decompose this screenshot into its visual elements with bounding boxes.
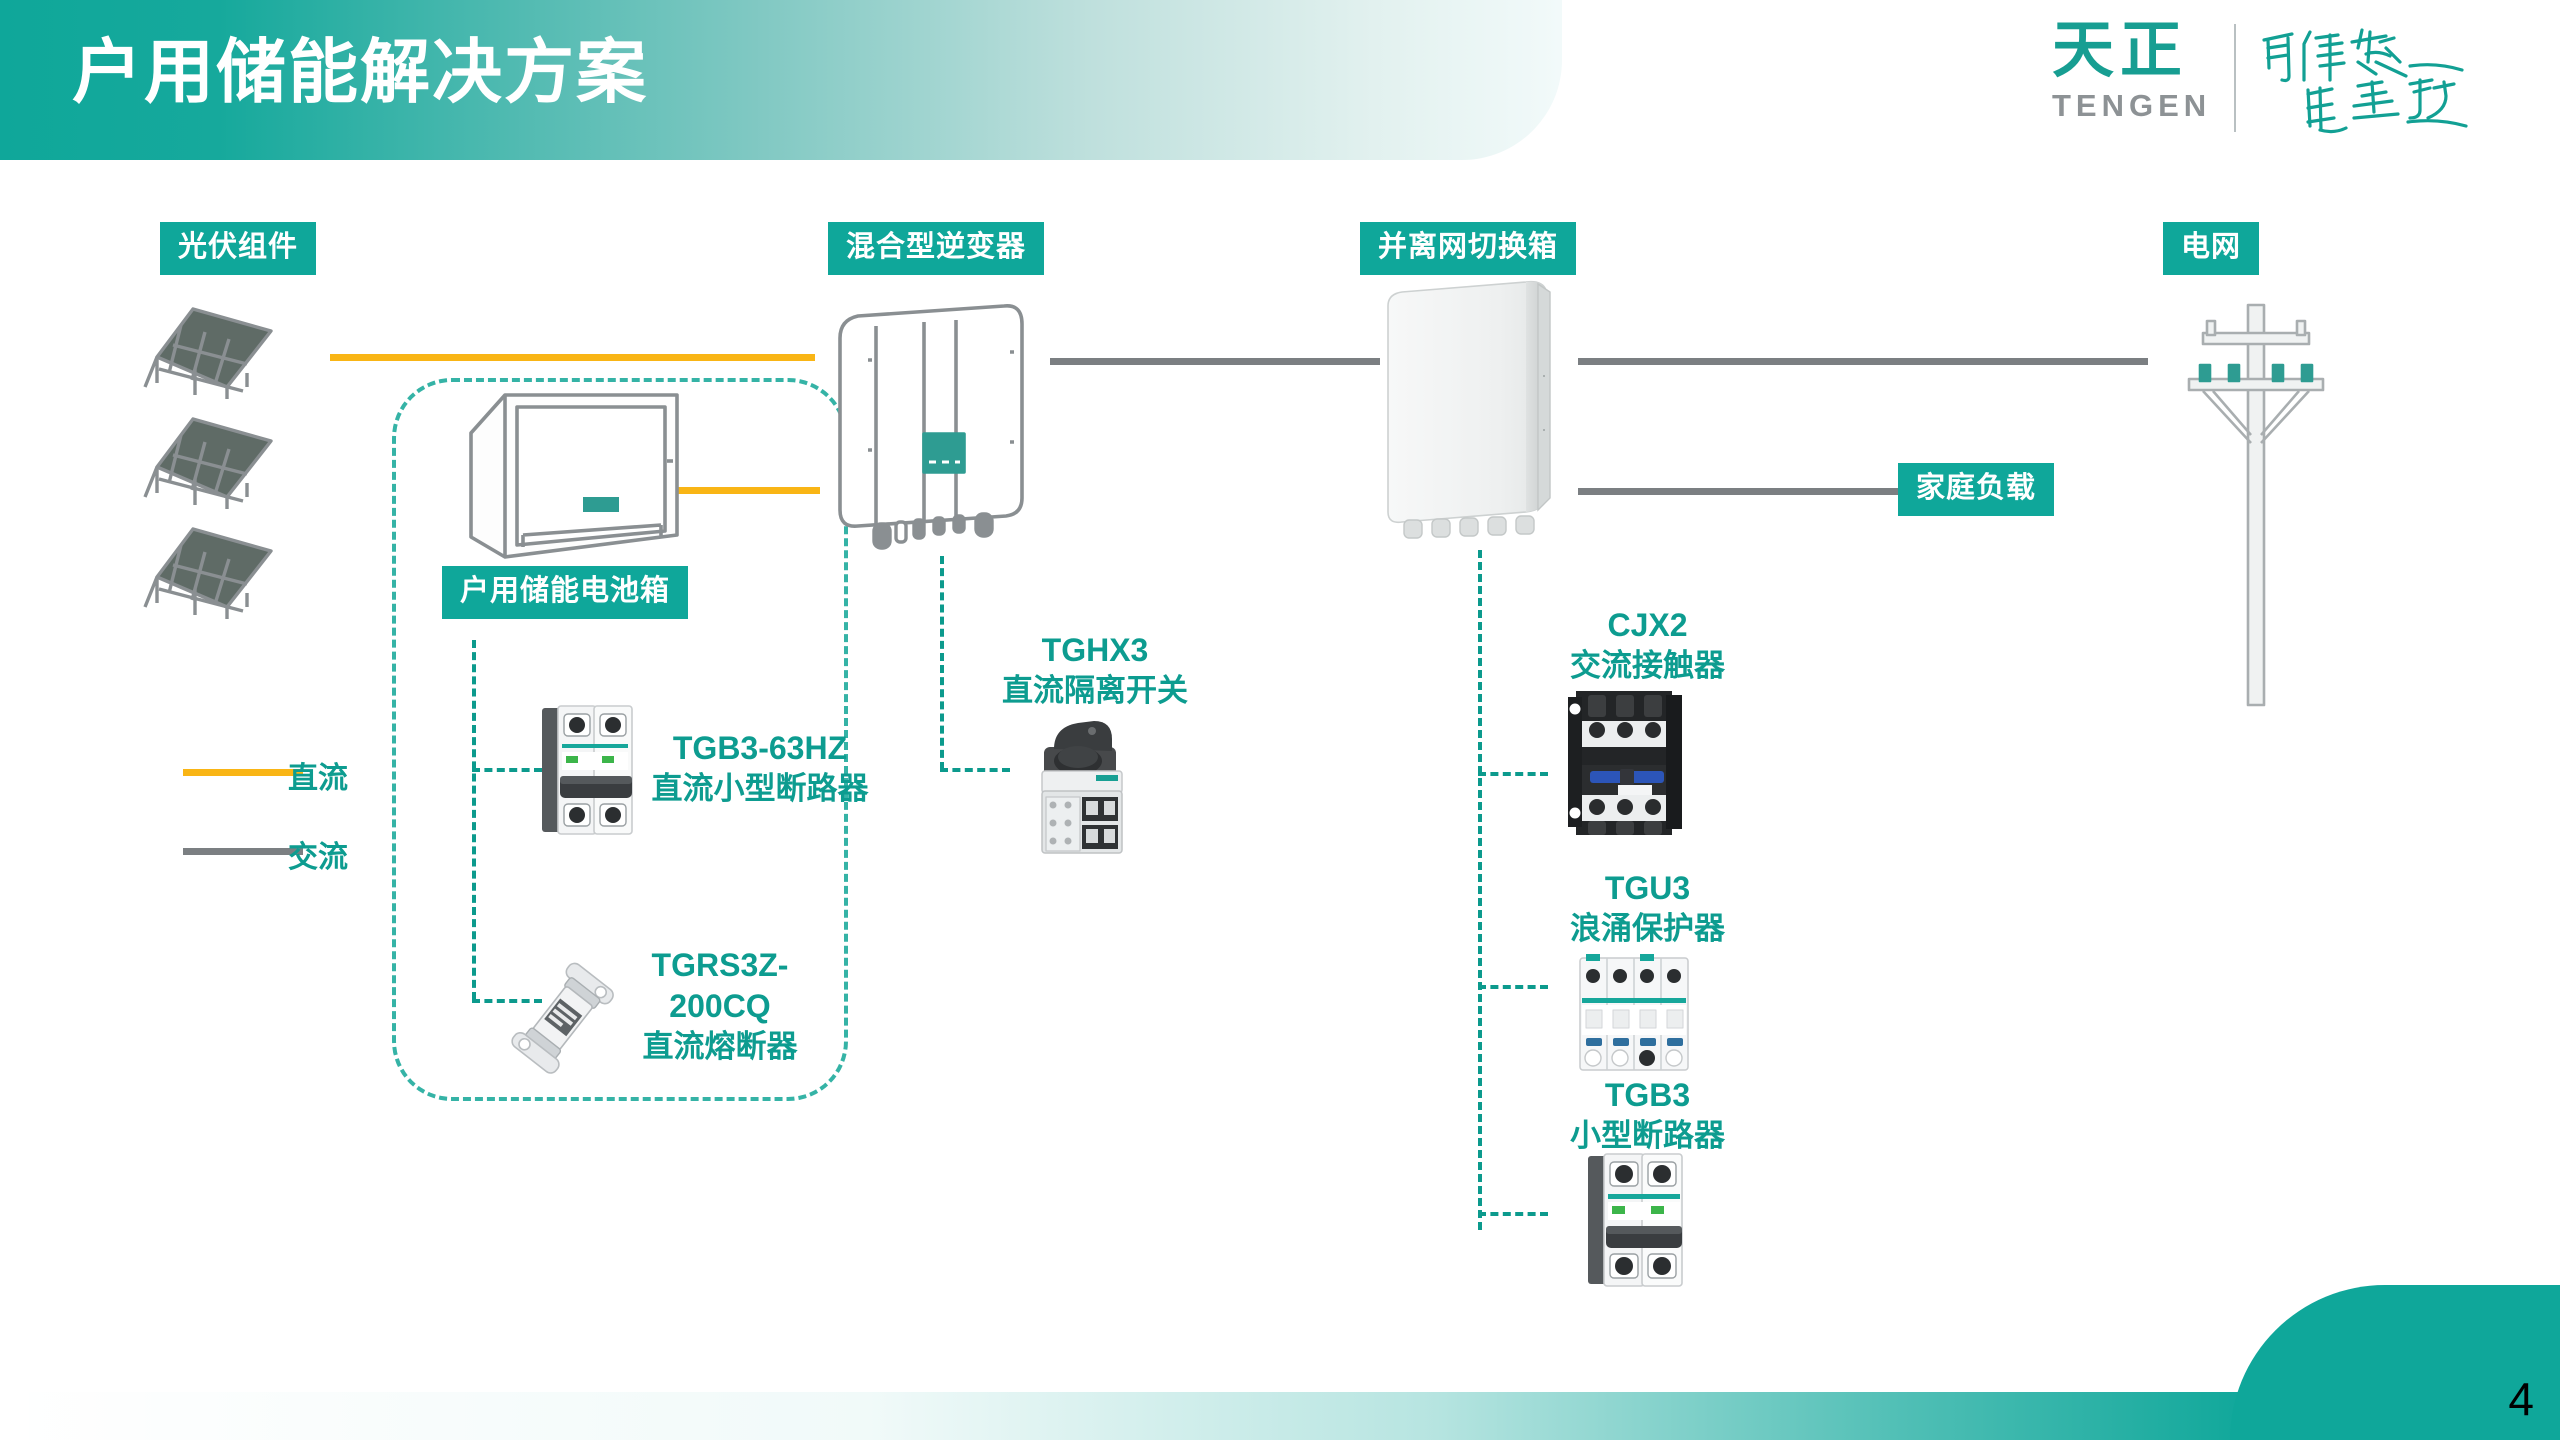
- product-model-tgrs3z-200cq-line2: 200CQ: [610, 986, 830, 1027]
- inverter-branch-to-isolator: [940, 768, 1010, 772]
- utility-pole-illustration: [2155, 295, 2355, 715]
- product-desc-tgu3: 浪涌保护器: [1540, 909, 1755, 949]
- badge-battery-cabinet: 户用储能电池箱: [442, 566, 688, 619]
- switchbox-branch-to-contactor: [1478, 772, 1548, 776]
- product-model-cjx2: CJX2: [1540, 605, 1755, 646]
- product-caption-tgu3: TGU3 浪涌保护器: [1540, 868, 1755, 949]
- product-desc-tgb3-63hz: 直流小型断路器: [610, 769, 910, 809]
- badge-hybrid-inverter: 混合型逆变器: [828, 222, 1044, 275]
- product-desc-tgrs3z-200cq: 直流熔断器: [610, 1027, 830, 1067]
- product-model-tgb3-63hz: TGB3-63HZ: [610, 728, 910, 769]
- inverter-branch-trunk: [940, 556, 944, 770]
- badge-switch-box: 并离网切换箱: [1360, 222, 1576, 275]
- logo-divider: [2234, 24, 2236, 132]
- footer-bar: [0, 1392, 2560, 1440]
- product-desc-cjx2: 交流接触器: [1540, 646, 1755, 686]
- product-icon-tghx3: [1020, 705, 1140, 870]
- legend-swatch-dc: [183, 769, 303, 776]
- switchbox-branch-to-spd: [1478, 985, 1548, 989]
- dc-line-pv-to-battery: [330, 354, 815, 361]
- page-title: 户用储能解决方案: [72, 22, 648, 124]
- product-icon-tgu3: [1572, 950, 1697, 1080]
- product-caption-tghx3: TGHX3 直流隔离开关: [965, 630, 1225, 711]
- legend-swatch-ac: [183, 848, 303, 855]
- product-icon-tgb3: [1578, 1148, 1698, 1293]
- badge-home-load: 家庭负载: [1898, 463, 2054, 516]
- switch-box-illustration: [1378, 280, 1578, 550]
- ac-line-switchbox-to-load: [1578, 488, 1900, 495]
- product-caption-tgb3: TGB3 小型断路器: [1540, 1075, 1755, 1156]
- badge-grid: 电网: [2163, 222, 2259, 275]
- switchbox-branch-to-mcb: [1478, 1212, 1548, 1216]
- product-caption-tgrs3z-200cq: TGRS3Z- 200CQ 直流熔断器: [610, 945, 830, 1067]
- product-model-tgu3: TGU3: [1540, 868, 1755, 909]
- product-model-tghx3: TGHX3: [965, 630, 1225, 671]
- legend-label-dc: 直流: [288, 753, 348, 797]
- slide-canvas: 户用储能解决方案 天正 TENGEN: [0, 0, 2560, 1440]
- ac-line-switchbox-to-grid: [1578, 358, 2148, 365]
- hybrid-inverter-illustration: [832, 300, 1042, 550]
- logo-english-text: TENGEN: [2052, 90, 2211, 121]
- product-caption-cjx2: CJX2 交流接触器: [1540, 605, 1755, 686]
- slogan-handwriting: [2258, 18, 2488, 138]
- battery-cabinet-illustration: [465, 385, 715, 570]
- product-model-tgb3: TGB3: [1540, 1075, 1755, 1116]
- ac-line-inverter-to-switchbox: [1050, 358, 1380, 365]
- pv-module-group-2: [135, 405, 315, 525]
- product-caption-tgb3-63hz: TGB3-63HZ 直流小型断路器: [610, 728, 910, 809]
- battery-branch-trunk: [472, 640, 476, 1000]
- brand-logo: 天正 TENGEN: [2044, 14, 2494, 144]
- logo-chinese-text: 天正: [2052, 20, 2188, 82]
- pv-module-group-3: [135, 515, 315, 635]
- legend-label-ac: 交流: [288, 832, 348, 876]
- product-icon-cjx2: [1562, 685, 1692, 840]
- page-number: 4: [2508, 1376, 2534, 1422]
- product-model-tgrs3z-200cq-line1: TGRS3Z-: [610, 945, 830, 986]
- switchbox-branch-trunk: [1478, 550, 1482, 1230]
- badge-pv-modules: 光伏组件: [160, 222, 316, 275]
